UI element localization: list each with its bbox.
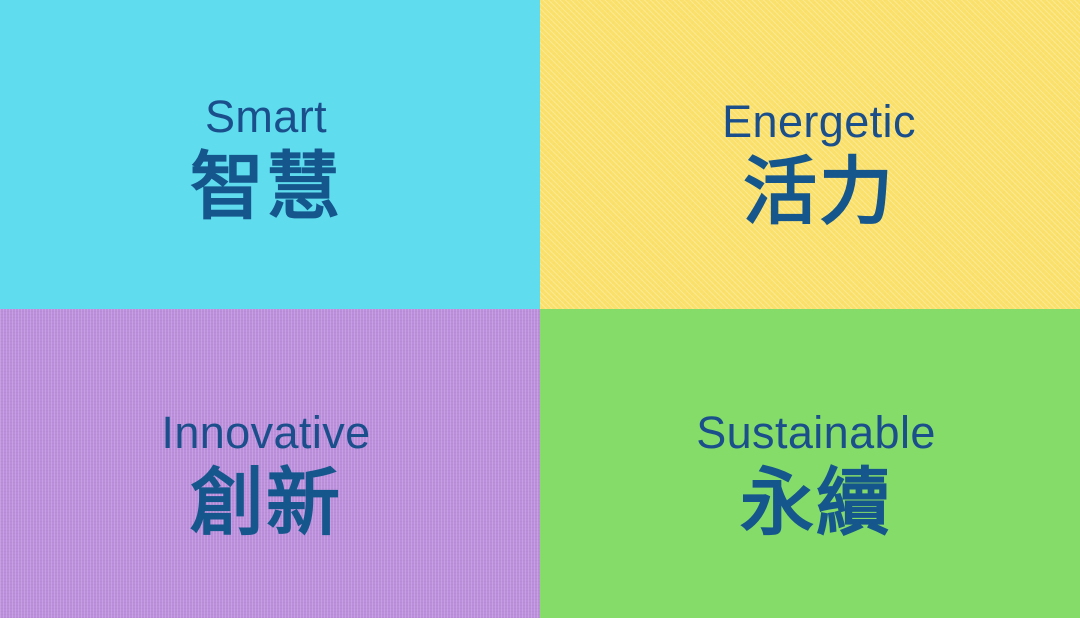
- quadrant-innovative: Innovative 創新: [0, 309, 540, 618]
- value-label-chinese-innovative: 創新: [190, 465, 342, 543]
- quadrant-energetic: Energetic 活力: [540, 0, 1080, 309]
- value-label-english-innovative: Innovative: [161, 410, 370, 455]
- brand-values-poster: Smart 智慧 Energetic 活力 Innovative 創新 Sust…: [0, 0, 1080, 618]
- value-label-english-sustainable: Sustainable: [696, 410, 936, 455]
- value-label-chinese-sustainable: 永續: [740, 465, 892, 543]
- value-label-chinese-smart: 智慧: [190, 149, 342, 227]
- value-block-sustainable: Sustainable 永續: [696, 410, 936, 543]
- value-label-english-smart: Smart: [205, 94, 327, 139]
- value-block-smart: Smart 智慧: [190, 94, 342, 227]
- quadrant-smart: Smart 智慧: [0, 0, 540, 309]
- value-block-innovative: Innovative 創新: [161, 410, 370, 543]
- value-block-energetic: Energetic 活力: [722, 99, 916, 232]
- value-label-english-energetic: Energetic: [722, 99, 916, 144]
- value-label-chinese-energetic: 活力: [743, 154, 895, 232]
- quadrant-sustainable: Sustainable 永續: [540, 309, 1080, 618]
